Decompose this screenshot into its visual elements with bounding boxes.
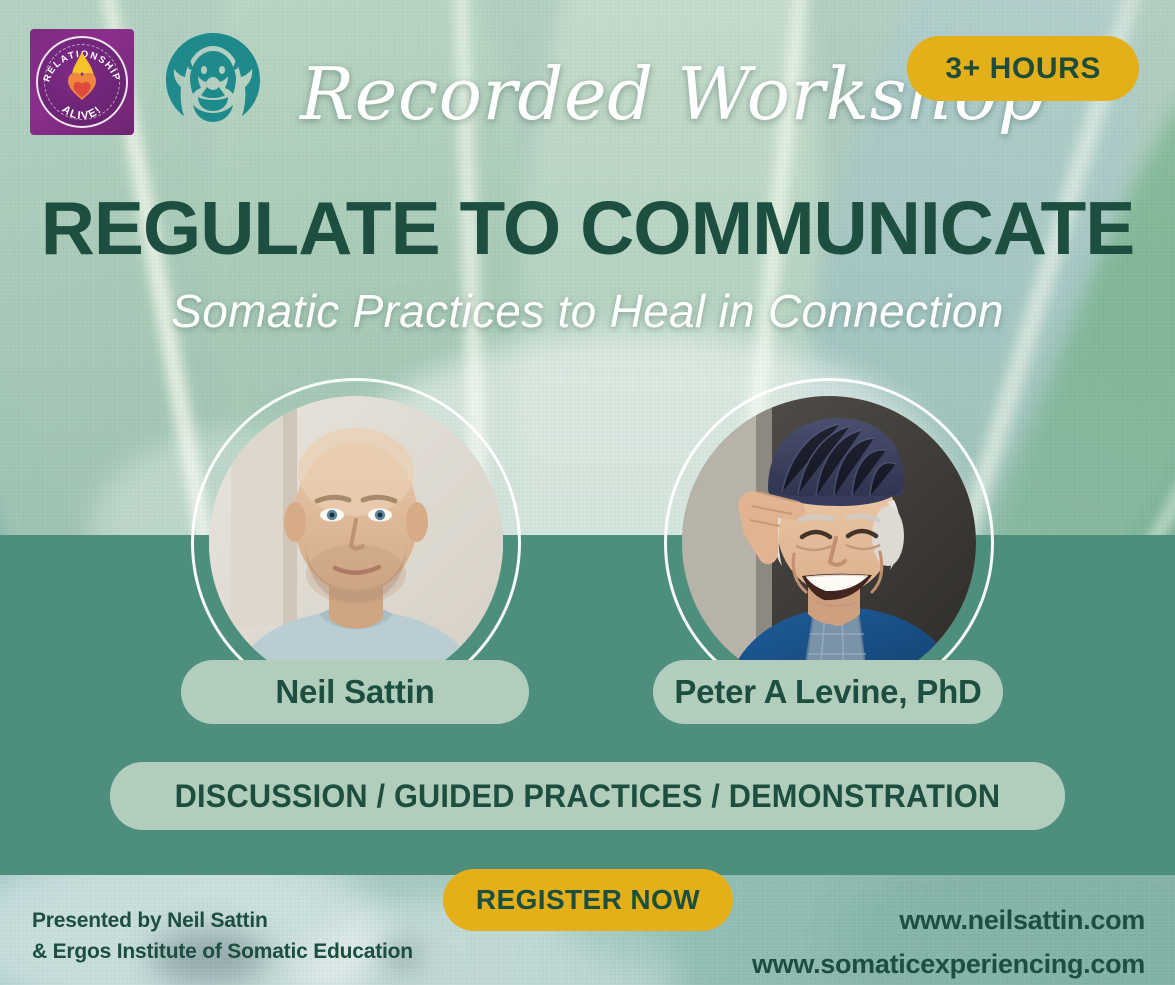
website-urls: www.neilsattin.com www.somaticexperienci… xyxy=(752,898,1145,985)
portrait-peter-levine xyxy=(682,396,976,690)
portrait-neil-sattin xyxy=(209,396,503,690)
format-banner-label: DISCUSSION / GUIDED PRACTICES / DEMONSTR… xyxy=(175,778,1001,815)
presented-by-line1: Presented by Neil Sattin xyxy=(32,905,413,936)
recorded-workshop-script: Recorded Workshop xyxy=(300,46,880,142)
relationship-alive-logo[interactable]: RELATIONSHIP ALIVE! xyxy=(30,29,134,135)
workshop-promo-poster: RELATIONSHIP ALIVE! xyxy=(0,0,1175,985)
presented-by-text: Presented by Neil Sattin & Ergos Institu… xyxy=(32,905,413,967)
presenter-card-peter-levine xyxy=(664,378,994,708)
format-banner: DISCUSSION / GUIDED PRACTICES / DEMONSTR… xyxy=(110,762,1065,830)
hours-badge-label: 3+ HOURS xyxy=(945,52,1101,86)
page-title: REGULATE TO COMMUNICATE xyxy=(0,185,1175,271)
flame-heart-icon xyxy=(54,50,110,117)
presenter-name-label: Neil Sattin xyxy=(275,673,434,711)
ergos-tiger-logo[interactable] xyxy=(157,27,269,139)
presenter-name-pill: Peter A Levine, PhD xyxy=(653,660,1003,724)
url-neilsattin[interactable]: www.neilsattin.com xyxy=(752,898,1145,942)
register-now-button[interactable]: REGISTER NOW xyxy=(443,869,733,931)
presenter-name-label: Peter A Levine, PhD xyxy=(674,673,981,711)
url-somaticexperiencing[interactable]: www.somaticexperiencing.com xyxy=(752,942,1145,985)
hours-badge: 3+ HOURS xyxy=(907,36,1139,101)
register-now-label: REGISTER NOW xyxy=(476,884,700,916)
page-subtitle: Somatic Practices to Heal in Connection xyxy=(0,283,1175,339)
presenter-name-pill: Neil Sattin xyxy=(181,660,529,724)
presenter-card-neil-sattin xyxy=(191,378,521,708)
presented-by-line2: & Ergos Institute of Somatic Education xyxy=(32,936,413,967)
